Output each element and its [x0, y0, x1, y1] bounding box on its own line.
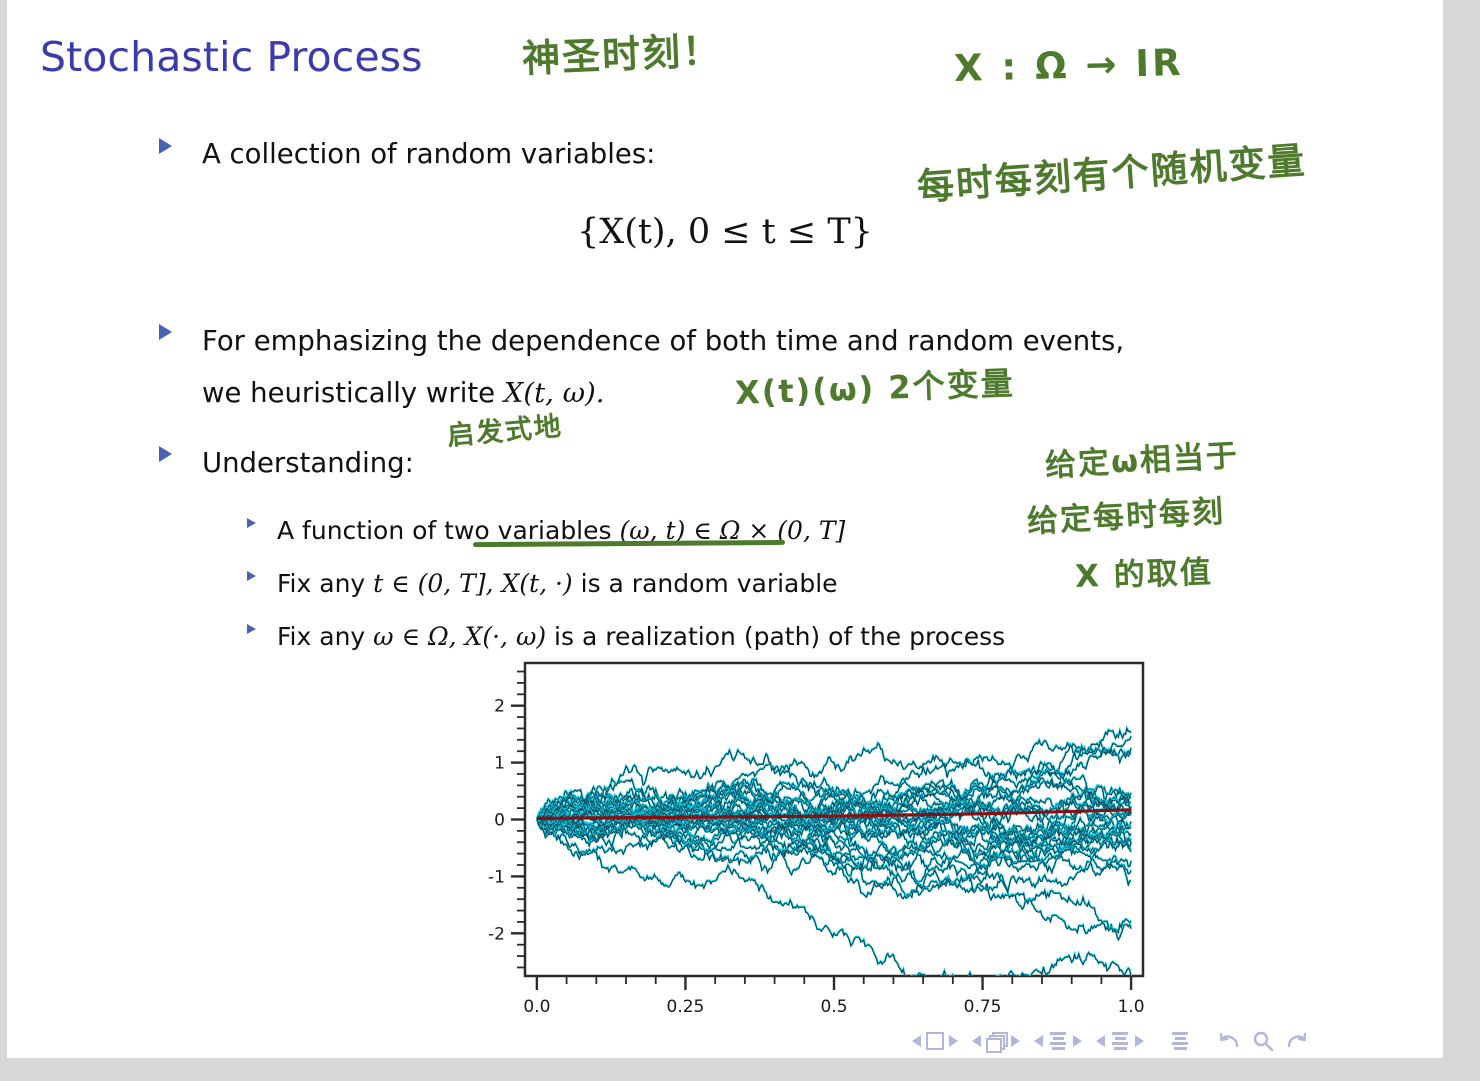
- nav-group-slide[interactable]: [972, 1032, 1020, 1050]
- sub-bullet-text-3: Fix any ω ∈ Ω, X(·, ω) is a realization …: [277, 615, 1005, 659]
- bullet-text-3: Understanding:: [202, 440, 414, 486]
- bullet-marker-3: [159, 446, 172, 462]
- sub-bullet-2-math: t ∈ (0, T], X(t, ·): [373, 569, 573, 598]
- nav-group-document[interactable]: [1170, 1032, 1190, 1050]
- prev-section-icon[interactable]: [1096, 1035, 1105, 1047]
- tick-label: 0: [494, 811, 505, 831]
- tick-label: -2: [488, 924, 505, 944]
- bullet-text-2-line1: For emphasizing the dependence of both t…: [202, 318, 1124, 364]
- next-slide-icon[interactable]: [1011, 1035, 1020, 1047]
- square-icon[interactable]: [926, 1032, 944, 1050]
- beamer-navigation-bar[interactable]: [912, 1026, 1322, 1056]
- slide-page: Stochastic Process A collection of rando…: [7, 0, 1443, 1058]
- display-formula-text: {X(t), 0 ≤ t ≤ T}: [577, 212, 873, 252]
- brownian-motion-plot: -2-10120.00.250.50.751.0: [477, 655, 1157, 1035]
- sub-bullet-3-suffix: is a realization (path) of the process: [546, 622, 1005, 651]
- next-section-icon[interactable]: [1135, 1035, 1144, 1047]
- nav-group-subsection[interactable]: [1034, 1032, 1082, 1050]
- annotation-random-variable-every-moment: 每时每刻有个随机变量: [915, 130, 1308, 211]
- sub-bullet-marker-3: [247, 624, 256, 634]
- plot-svg: -2-10120.00.250.50.751.0: [477, 655, 1157, 1035]
- annotation-x-of-t-of-omega: X(t)(ω) 2个变量: [734, 358, 1015, 414]
- tick-label: -1: [488, 867, 505, 887]
- bullet-marker-2: [159, 324, 172, 340]
- document-lines-icon[interactable]: [1170, 1032, 1190, 1050]
- forward-icon[interactable]: [1284, 1030, 1308, 1052]
- prev-subsection-icon[interactable]: [1034, 1035, 1043, 1047]
- sub-bullet-marker-2: [247, 571, 256, 581]
- sub-bullet-2-suffix: is a random variable: [573, 569, 838, 598]
- sub-bullet-3-math: ω ∈ Ω, X(·, ω): [373, 622, 546, 651]
- next-frame-icon[interactable]: [949, 1035, 958, 1047]
- tick-label: 1.0: [1118, 997, 1145, 1017]
- nav-group-section[interactable]: [1096, 1032, 1144, 1050]
- sub-bullet-2-prefix: Fix any: [277, 569, 373, 598]
- tick-label: 0.75: [964, 997, 1002, 1017]
- tick-label: 1: [494, 754, 505, 774]
- annotation-given-omega-equivalent: 给定ω相当于: [1044, 430, 1240, 485]
- section-lines-icon[interactable]: [1110, 1032, 1130, 1050]
- annotation-value-of-x: X 的取值: [1074, 546, 1213, 596]
- display-formula: {X(t), 0 ≤ t ≤ T}: [7, 212, 1443, 252]
- stacked-frames-icon[interactable]: [986, 1032, 1006, 1050]
- tick-label: 2: [494, 697, 505, 717]
- nav-group-frame[interactable]: [912, 1032, 958, 1050]
- back-icon[interactable]: [1218, 1030, 1242, 1052]
- nav-group-tools[interactable]: [1218, 1030, 1308, 1052]
- prev-slide-icon[interactable]: [972, 1035, 981, 1047]
- sub-bullet-3-prefix: Fix any: [277, 622, 373, 651]
- tick-label: 0.5: [820, 997, 847, 1017]
- next-subsection-icon[interactable]: [1073, 1035, 1082, 1047]
- prev-frame-icon[interactable]: [912, 1035, 921, 1047]
- annotation-sacred-moment: 神圣时刻！: [521, 19, 723, 83]
- sub-bullet-text-2: Fix any t ∈ (0, T], X(t, ·) is a random …: [277, 562, 838, 606]
- subsection-lines-icon[interactable]: [1048, 1032, 1068, 1050]
- pdf-viewer: Stochastic Process A collection of rando…: [0, 0, 1480, 1081]
- page-title: Stochastic Process: [40, 33, 423, 81]
- annotation-x-maps-omega-to-r: X : Ω → IR: [953, 41, 1184, 90]
- sub-bullet-marker-1: [247, 518, 256, 528]
- tick-label: 0.25: [667, 997, 705, 1017]
- search-icon[interactable]: [1252, 1030, 1274, 1052]
- annotation-given-every-moment: 给定每时每刻: [1026, 486, 1226, 541]
- bullet-marker-1: [159, 138, 172, 154]
- bullet-text-2-line2-prefix: we heuristically write: [202, 377, 504, 409]
- tick-label: 0.0: [523, 997, 550, 1017]
- bullet-text-1: A collection of random variables:: [202, 131, 655, 177]
